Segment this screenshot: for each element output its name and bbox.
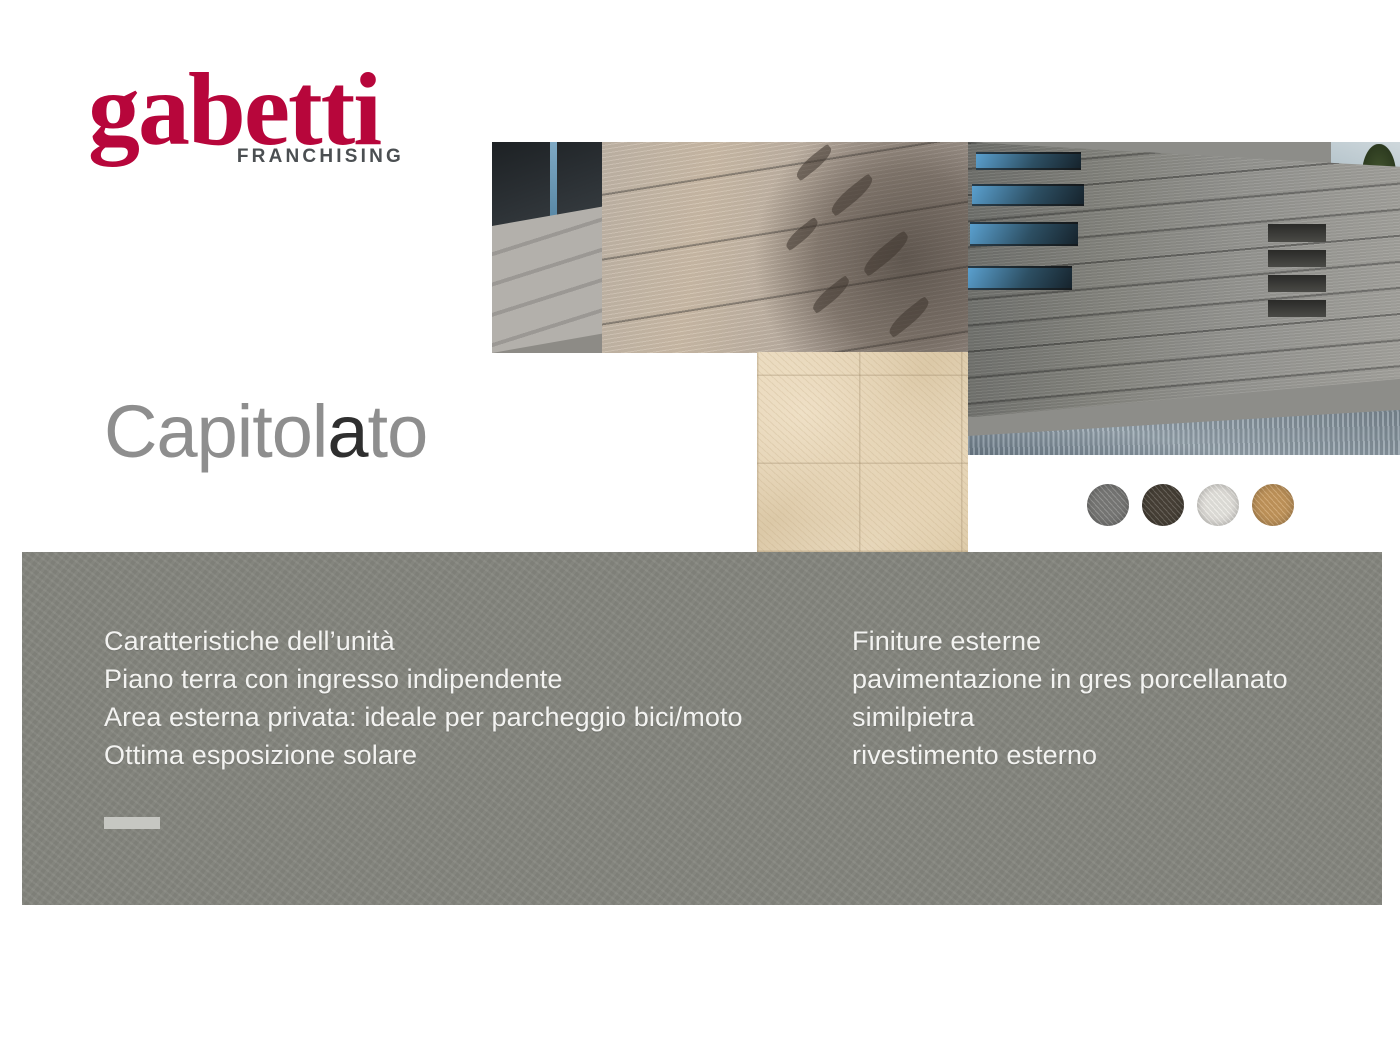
finish-line: pavimentazione in gres porcellanato (852, 660, 1372, 698)
leaf-shadow-mass (750, 142, 970, 353)
stone-grain-texture (757, 352, 968, 552)
window-strip (970, 222, 1078, 246)
vent-slot (1268, 275, 1326, 292)
page-title-accent-letter: a (327, 390, 367, 473)
swatch-tan-ochre[interactable] (1252, 484, 1294, 526)
photo-slatted-facade (968, 142, 1400, 455)
vent-slot (1268, 250, 1326, 267)
page-title-part-2: to (368, 390, 428, 473)
window-strip (976, 152, 1081, 170)
page-title-part-1: Capitol (104, 390, 327, 473)
swatch-medium-gray[interactable] (1087, 484, 1129, 526)
slide-root: gabetti FRANCHISING (0, 0, 1400, 1050)
photo-stone-look-porcelain-tiles (757, 352, 968, 552)
specification-panel: Caratteristiche dell’unità Piano terra c… (22, 552, 1382, 905)
finish-line: rivestimento esterno (852, 736, 1372, 774)
window-strip (968, 266, 1072, 290)
cladding-face-left (492, 206, 607, 353)
vent-slot (1268, 224, 1326, 242)
external-finishes-column: Finiture esterne pavimentazione in gres … (852, 622, 1372, 774)
swatch-dark-brown[interactable] (1142, 484, 1184, 526)
finish-line: similpietra (852, 698, 1372, 736)
window-strip (972, 184, 1084, 206)
finish-line: Finiture esterne (852, 622, 1372, 660)
vent-slot (1268, 300, 1326, 317)
brand-logo: gabetti FRANCHISING (88, 58, 408, 178)
swatch-cream-white[interactable] (1197, 484, 1239, 526)
photo-building-corner-cladding (492, 142, 970, 353)
feature-line: Caratteristiche dell’unità (104, 622, 844, 660)
gravel-strip (968, 405, 1400, 455)
unit-features-column: Caratteristiche dell’unità Piano terra c… (104, 622, 844, 774)
feature-line: Piano terra con ingresso indipendente (104, 660, 844, 698)
color-swatch-group (1087, 484, 1294, 526)
feature-line: Ottima esposizione solare (104, 736, 844, 774)
feature-line: Area esterna privata: ideale per parcheg… (104, 698, 844, 736)
divider-dash (104, 817, 160, 829)
page-title: Capitolato (104, 392, 427, 472)
